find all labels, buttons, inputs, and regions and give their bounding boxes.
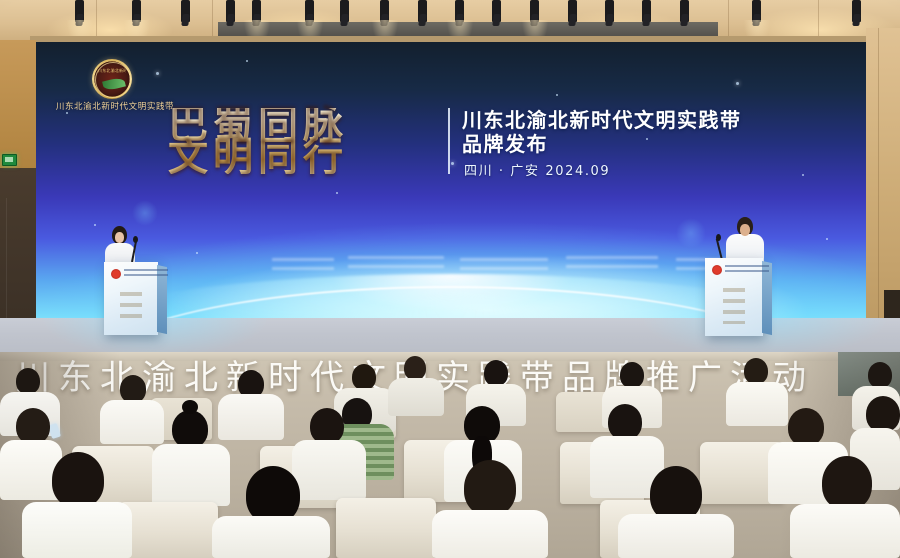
attendee-shirt	[726, 382, 788, 426]
attendee-head	[744, 358, 768, 384]
attendee-head	[16, 408, 50, 444]
speaker-face	[740, 224, 750, 236]
attendee-head	[120, 375, 146, 403]
attendee-head	[52, 452, 104, 508]
screen-main-title: 巴蜀同脉 文明同行	[168, 108, 438, 174]
attendee-head	[16, 368, 40, 394]
podium-header-text	[124, 269, 168, 279]
left-wall-dark-panel	[0, 168, 36, 340]
podium-emblem-icon	[712, 265, 722, 275]
podium-right	[705, 258, 763, 336]
microphone-right	[716, 234, 721, 241]
title-divider	[448, 108, 450, 174]
screen-subtitle: 川东北渝北新时代文明实践带 品牌发布	[462, 108, 862, 156]
attendee-shirt	[100, 400, 164, 444]
attendee-shirt	[218, 394, 284, 440]
attendee-head	[868, 362, 892, 388]
attendee-shirt	[388, 378, 444, 416]
podium-header-text	[725, 265, 769, 275]
screen-decor-text	[566, 256, 658, 274]
emblem-inner-text: 川东北渝北新时代文明实践带	[98, 66, 126, 75]
attendee-shirt	[790, 504, 900, 558]
podium-vertical-text	[120, 292, 142, 323]
chair	[118, 502, 218, 558]
screen-decor-text	[460, 258, 548, 276]
screen-place-date: 四川 · 广安 2024.09	[464, 160, 610, 179]
program-emblem-icon: 川东北渝北新时代文明实践带	[92, 59, 132, 99]
subtitle-line-2: 品牌发布	[462, 132, 862, 156]
exit-sign-icon	[2, 154, 17, 166]
host-face	[115, 232, 124, 243]
attendee-head	[866, 396, 900, 432]
conference-stage-photo: 川东北渝北新时代文明实践带 川东北渝北新时代文明实践带 巴蜀同脉 文明同行 川东…	[0, 0, 900, 558]
attendee-head	[172, 410, 208, 448]
chair	[336, 498, 436, 558]
microphone-left	[133, 236, 138, 243]
title-line-2: 文明同行	[168, 141, 438, 174]
subtitle-line-1: 川东北渝北新时代文明实践带	[462, 108, 742, 132]
attendee-head	[788, 408, 824, 446]
attendee-shirt	[212, 516, 330, 558]
attendee-shirt	[292, 440, 366, 500]
attendee-head	[822, 456, 872, 510]
attendee-shirt	[22, 502, 132, 558]
emblem-caption: 川东北渝北新时代文明实践带	[50, 100, 180, 112]
attendee-head	[484, 360, 508, 386]
podium-emblem-icon	[111, 269, 121, 279]
attendee-shirt	[618, 514, 734, 558]
attendee-head	[464, 460, 516, 516]
attendee-head	[310, 408, 344, 444]
attendee-shirt	[432, 510, 548, 558]
screen-decor-text	[272, 258, 334, 276]
attendee-hair-bun	[182, 400, 198, 414]
attendee-head	[404, 356, 426, 380]
attendee-shirt	[152, 444, 230, 506]
attendee-head	[352, 364, 376, 390]
podium-left	[104, 262, 158, 335]
attendee-head	[608, 404, 642, 440]
left-wall-wood-panel	[0, 40, 36, 168]
podium-vertical-text	[723, 288, 745, 324]
screen-decor-text	[348, 256, 444, 274]
attendee-head	[620, 362, 644, 388]
